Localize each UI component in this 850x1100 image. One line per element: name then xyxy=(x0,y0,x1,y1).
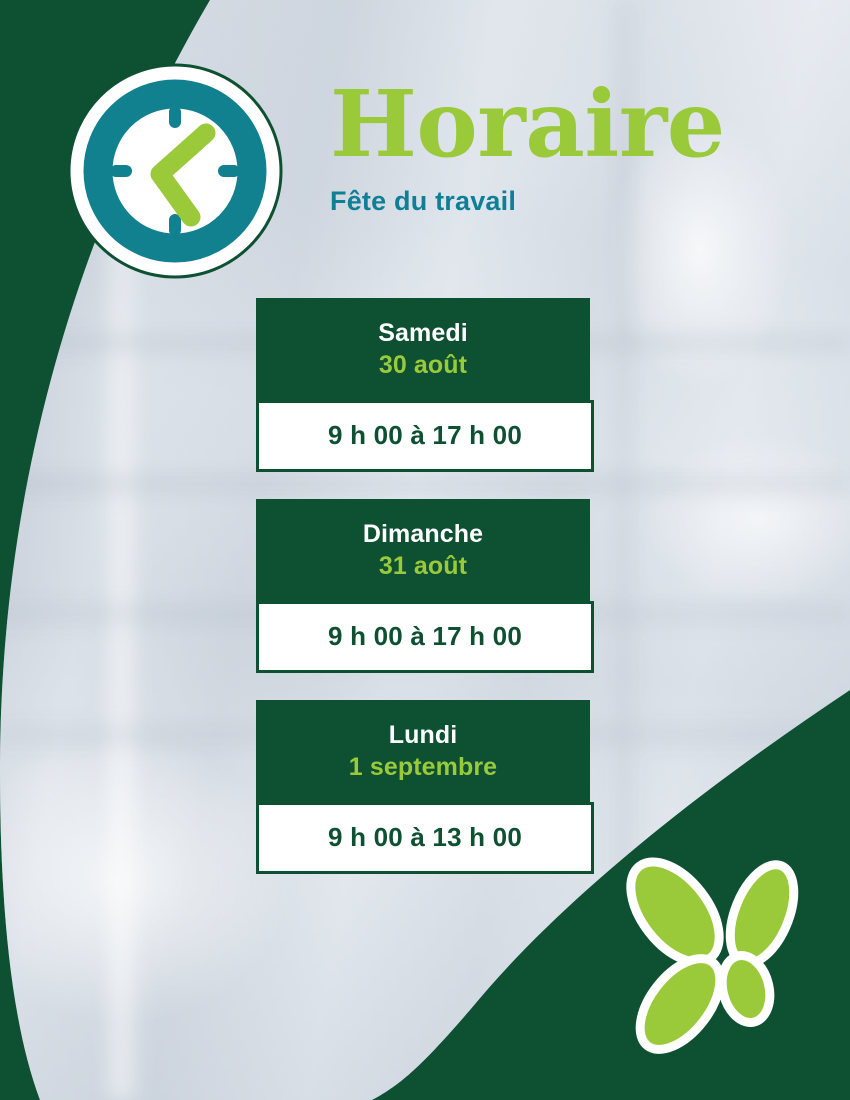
schedule-card-day: Dimanche xyxy=(266,520,580,550)
page-subtitle: Fête du travail xyxy=(330,186,830,217)
schedule-card-body: 9 h 00 à 17 h 00 xyxy=(256,400,594,472)
clock-icon xyxy=(66,62,284,280)
schedule-card-date: 30 août xyxy=(266,349,580,382)
schedule-card-hours: 9 h 00 à 17 h 00 xyxy=(267,621,583,652)
schedule-card-day: Samedi xyxy=(266,319,580,349)
schedule-card-hours: 9 h 00 à 13 h 00 xyxy=(267,822,583,853)
schedule-card-body: 9 h 00 à 17 h 00 xyxy=(256,601,594,673)
schedule-card-date: 1 septembre xyxy=(266,751,580,784)
poster-header: Horaire Fête du travail xyxy=(0,0,850,290)
butterfly-flower-logo-icon xyxy=(612,852,842,1067)
page-title: Horaire xyxy=(330,78,830,172)
title-block: Horaire Fête du travail xyxy=(330,78,830,217)
schedule-card-list: Samedi 30 août 9 h 00 à 17 h 00 Dimanche… xyxy=(256,298,594,874)
schedule-card: Samedi 30 août 9 h 00 à 17 h 00 xyxy=(256,298,594,472)
schedule-card-header: Dimanche 31 août xyxy=(256,499,590,601)
schedule-card-date: 31 août xyxy=(266,550,580,583)
schedule-poster: Horaire Fête du travail Samedi 30 août 9… xyxy=(0,0,850,1100)
schedule-card-body: 9 h 00 à 13 h 00 xyxy=(256,802,594,874)
schedule-card-header: Lundi 1 septembre xyxy=(256,700,590,802)
schedule-card: Dimanche 31 août 9 h 00 à 17 h 00 xyxy=(256,499,594,673)
schedule-card-header: Samedi 30 août xyxy=(256,298,590,400)
schedule-card-hours: 9 h 00 à 17 h 00 xyxy=(267,420,583,451)
schedule-card-day: Lundi xyxy=(266,721,580,751)
schedule-card: Lundi 1 septembre 9 h 00 à 13 h 00 xyxy=(256,700,594,874)
